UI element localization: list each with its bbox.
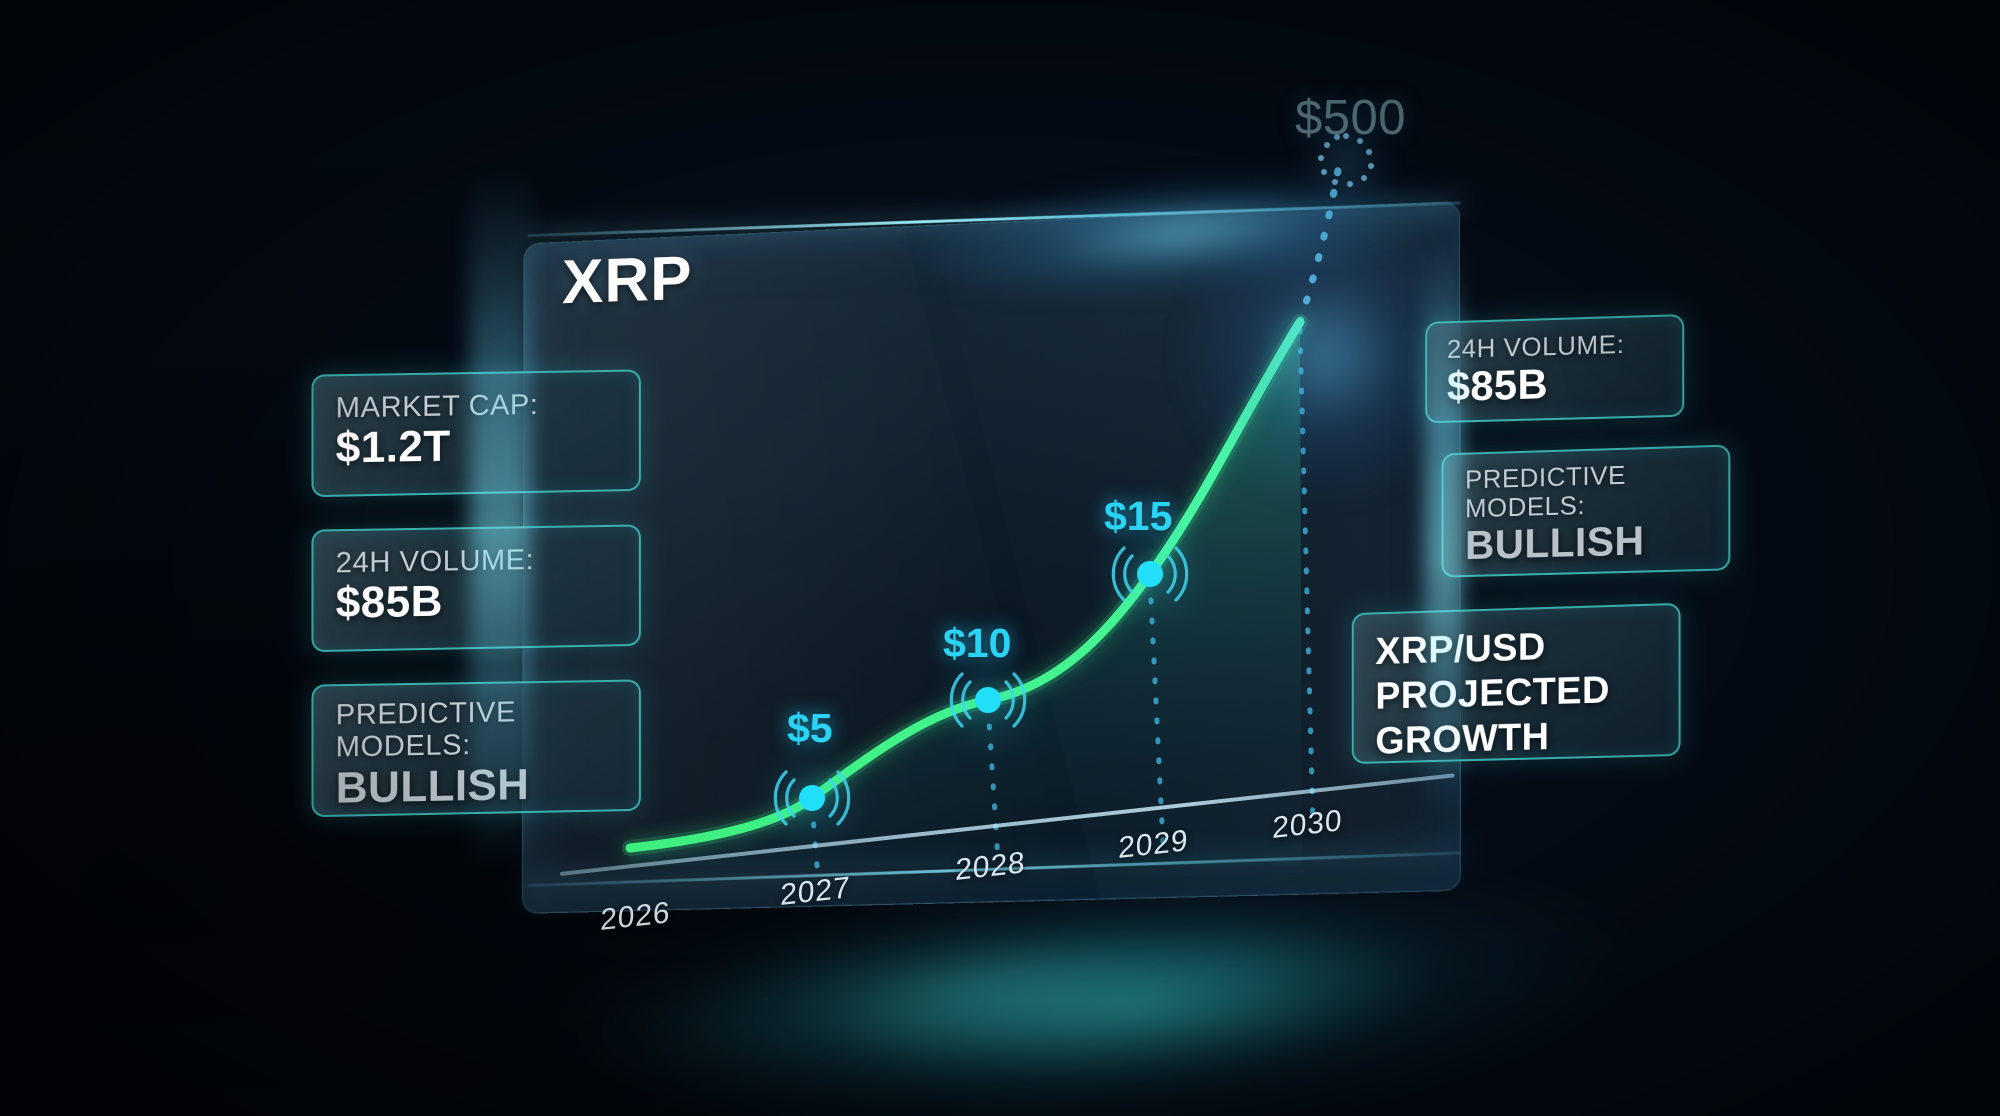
- scene-root: XRP: [0, 0, 2000, 1116]
- vignette: [0, 0, 2000, 1116]
